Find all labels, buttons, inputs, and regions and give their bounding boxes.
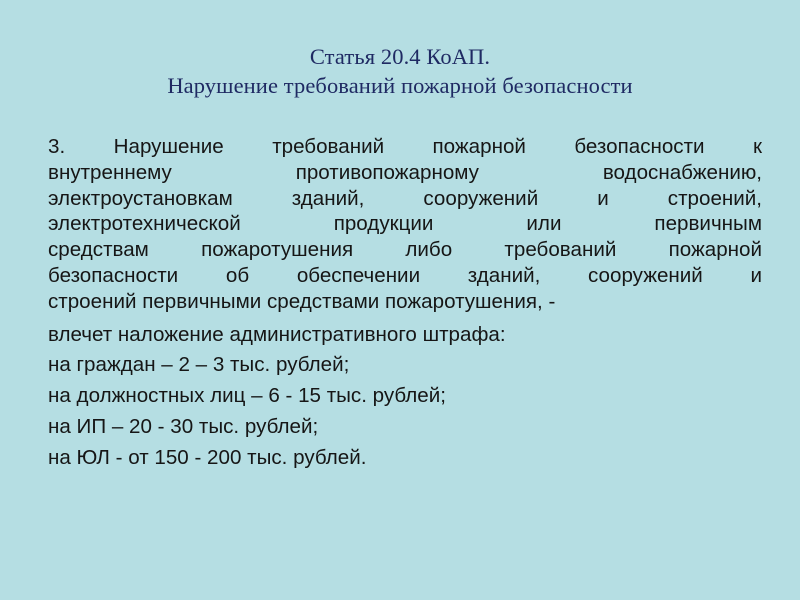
title-line-subject: Нарушение требований пожарной безопаснос… (0, 71, 800, 100)
offense-paragraph-line: средствам пожаротушения либо требований … (48, 237, 762, 263)
penalty-item-citizens: на граждан – 2 – 3 тыс. рублей; (48, 349, 762, 380)
penalty-intro: влечет наложение административного штраф… (48, 320, 762, 349)
penalty-item-legal-entities: на ЮЛ - от 150 - 200 тыс. рублей. (48, 442, 762, 473)
offense-paragraph-line: внутреннему противопожарному водоснабжен… (48, 160, 762, 186)
offense-paragraph-line: строений первичными средствами пожаротуш… (48, 289, 762, 315)
penalty-list: влечет наложение административного штраф… (48, 320, 762, 473)
slide-canvas: Статья 20.4 КоАП. Нарушение требований п… (0, 0, 800, 600)
slide-body: 3. Нарушение требований пожарной безопас… (48, 134, 762, 473)
offense-paragraph-line: электроустановкам зданий, сооружений и с… (48, 186, 762, 212)
offense-paragraph-line: 3. Нарушение требований пожарной безопас… (48, 134, 762, 160)
offense-paragraph: 3. Нарушение требований пожарной безопас… (48, 134, 762, 315)
penalty-item-officials: на должностных лиц – 6 - 15 тыс. рублей; (48, 380, 762, 411)
offense-paragraph-line: электротехнической продукции или первичн… (48, 211, 762, 237)
title-line-article: Статья 20.4 КоАП. (0, 42, 800, 71)
penalty-item-individual-entrepreneurs: на ИП – 20 - 30 тыс. рублей; (48, 411, 762, 442)
offense-paragraph-line: безопасности об обеспечении зданий, соор… (48, 263, 762, 289)
slide-title: Статья 20.4 КоАП. Нарушение требований п… (0, 42, 800, 100)
